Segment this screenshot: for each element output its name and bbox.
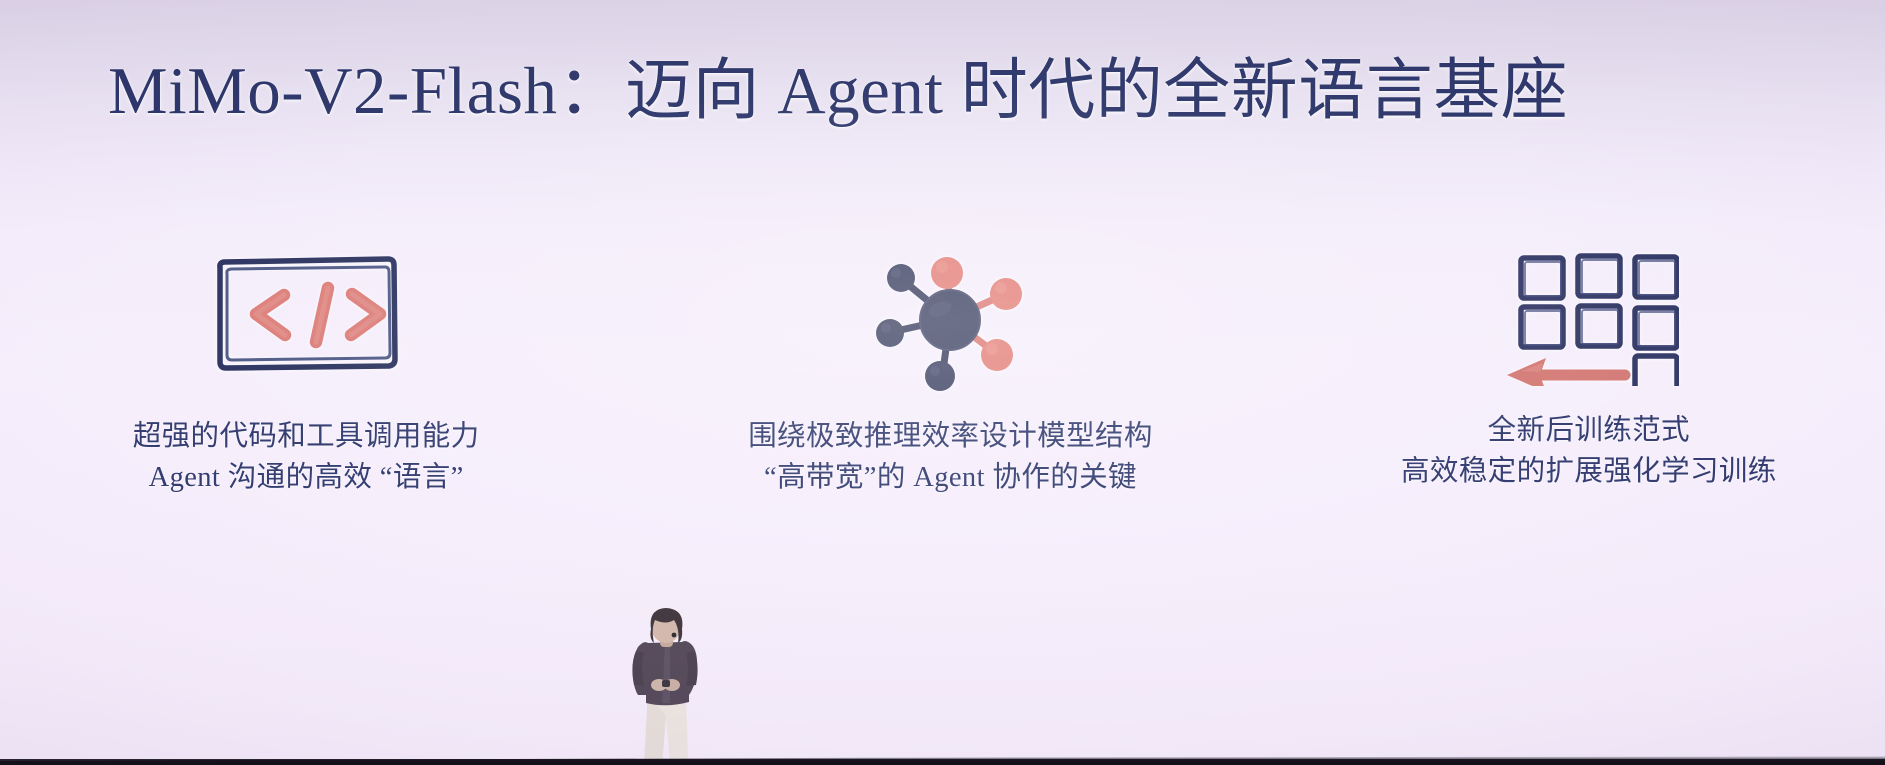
feature-column-posttraining: 全新后训练范式 高效稳定的扩展强化学习训练	[1275, 240, 1885, 570]
caption-line-1: 全新后训练范式	[1488, 415, 1690, 446]
caption-line-2: “高带宽”的 Agent 协作的关键	[748, 457, 1153, 498]
caption-line-1: 围绕极致推理效率设计模型结构	[748, 421, 1153, 452]
caption-line-2: 高效稳定的扩展强化学习训练	[1401, 451, 1777, 492]
code-brackets-icon	[206, 224, 406, 404]
slide-stage: MiMo-V2-Flash：迈向 Agent 时代的全新语言基座	[0, 0, 1885, 765]
caption-line-1: 超强的代码和工具调用能力	[133, 421, 480, 452]
feature-column-code: 超强的代码和工具调用能力 Agent 沟通的高效 “语言”	[0, 240, 620, 570]
feature-caption-architecture: 围绕极致推理效率设计模型结构 “高带宽”的 Agent 协作的关键	[748, 416, 1153, 498]
feature-caption-posttraining: 全新后训练范式 高效稳定的扩展强化学习训练	[1401, 410, 1777, 492]
left-arrow-glyph	[1507, 358, 1625, 386]
page-title: MiMo-V2-Flash：迈向 Agent 时代的全新语言基座	[108, 48, 1608, 134]
stage-edge-shadow	[0, 759, 1885, 765]
feature-columns: 超强的代码和工具调用能力 Agent 沟通的高效 “语言”	[0, 240, 1885, 570]
feature-column-architecture: 围绕极致推理效率设计模型结构 “高带宽”的 Agent 协作的关键	[636, 240, 1264, 570]
grid-arrow-icon	[1499, 226, 1679, 406]
network-hub-icon	[860, 232, 1040, 412]
presenter-figure	[604, 607, 734, 765]
feature-caption-code: 超强的代码和工具调用能力 Agent 沟通的高效 “语言”	[133, 416, 480, 498]
caption-line-2: Agent 沟通的高效 “语言”	[133, 457, 480, 498]
